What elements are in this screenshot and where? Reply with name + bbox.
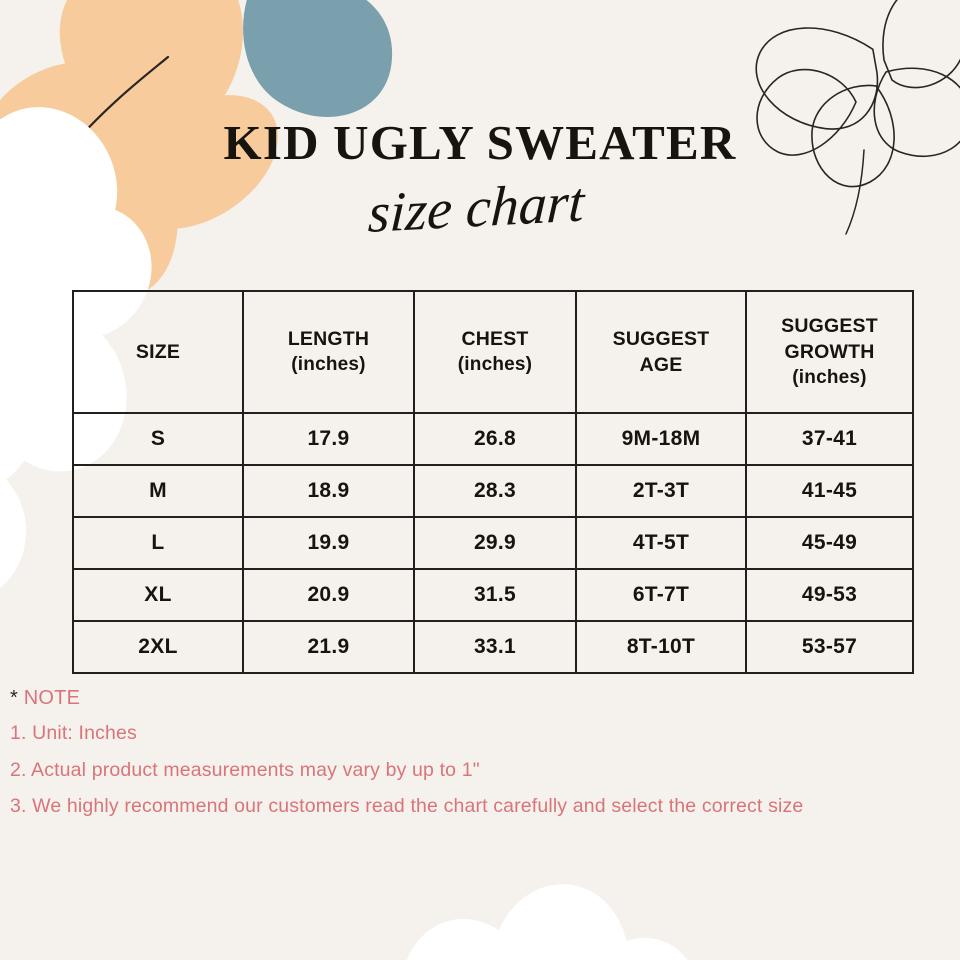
cell-chest: 33.1 xyxy=(414,621,576,673)
page-title: KID UGLY SWEATER xyxy=(0,118,960,167)
cell-age: 6T-7T xyxy=(576,569,746,621)
script-subtitle-text: size chart xyxy=(367,176,588,245)
notes-section: * NOTE 1. Unit: Inches 2. Actual product… xyxy=(10,688,954,834)
col-header-chest-unit: (inches) xyxy=(415,352,575,378)
cell-age: 4T-5T xyxy=(576,517,746,569)
col-header-size: SIZE xyxy=(73,291,243,413)
script-subtitle-icon: size chart xyxy=(220,176,740,246)
cell-length: 20.9 xyxy=(243,569,414,621)
col-header-size-label: SIZE xyxy=(136,341,180,363)
col-header-length-unit: (inches) xyxy=(244,352,413,378)
cell-age: 2T-3T xyxy=(576,465,746,517)
col-header-age-label2: AGE xyxy=(577,352,745,378)
col-header-growth: SUGGEST GROWTH (inches) xyxy=(746,291,913,413)
cell-growth: 37-41 xyxy=(746,413,913,465)
cell-length: 19.9 xyxy=(243,517,414,569)
col-header-age: SUGGEST AGE xyxy=(576,291,746,413)
note-line-2: 2. Actual product measurements may vary … xyxy=(10,761,954,781)
cell-length: 17.9 xyxy=(243,413,414,465)
table-row: L19.929.94T-5T45-49 xyxy=(73,517,913,569)
table-row: XL20.931.56T-7T49-53 xyxy=(73,569,913,621)
cell-growth: 45-49 xyxy=(746,517,913,569)
col-header-growth-label2: GROWTH xyxy=(747,339,912,365)
note-heading-label: NOTE xyxy=(24,687,80,709)
col-header-length: LENGTH (inches) xyxy=(243,291,414,413)
cell-size: S xyxy=(73,413,243,465)
cell-chest: 29.9 xyxy=(414,517,576,569)
note-asterisk-icon: * xyxy=(10,687,18,709)
cell-growth: 41-45 xyxy=(746,465,913,517)
note-line-1: 1. Unit: Inches xyxy=(10,724,954,744)
cell-chest: 28.3 xyxy=(414,465,576,517)
table-row: 2XL21.933.18T-10T53-57 xyxy=(73,621,913,673)
size-chart-table: SIZE LENGTH (inches) CHEST (inches) SUGG… xyxy=(72,290,914,674)
table-header-row: SIZE LENGTH (inches) CHEST (inches) SUGG… xyxy=(73,291,913,413)
cell-chest: 31.5 xyxy=(414,569,576,621)
note-heading: * NOTE xyxy=(10,688,954,708)
table-body: S17.926.89M-18M37-41M18.928.32T-3T41-45L… xyxy=(73,413,913,673)
cell-length: 18.9 xyxy=(243,465,414,517)
cell-growth: 49-53 xyxy=(746,569,913,621)
col-header-length-label: LENGTH xyxy=(244,326,413,352)
cell-growth: 53-57 xyxy=(746,621,913,673)
table-row: S17.926.89M-18M37-41 xyxy=(73,413,913,465)
cell-chest: 26.8 xyxy=(414,413,576,465)
cell-age: 8T-10T xyxy=(576,621,746,673)
table-header: SIZE LENGTH (inches) CHEST (inches) SUGG… xyxy=(73,291,913,413)
page-subtitle: size chart xyxy=(0,176,960,246)
col-header-growth-unit: (inches) xyxy=(747,365,912,391)
note-line-3: 3. We highly recommend our customers rea… xyxy=(10,797,954,817)
table-row: M18.928.32T-3T41-45 xyxy=(73,465,913,517)
col-header-chest: CHEST (inches) xyxy=(414,291,576,413)
cell-size: 2XL xyxy=(73,621,243,673)
cell-length: 21.9 xyxy=(243,621,414,673)
cell-size: XL xyxy=(73,569,243,621)
col-header-age-label: SUGGEST xyxy=(577,326,745,352)
cell-age: 9M-18M xyxy=(576,413,746,465)
col-header-chest-label: CHEST xyxy=(415,326,575,352)
size-chart-canvas: KID UGLY SWEATER size chart SIZE LENGTH xyxy=(0,0,960,960)
col-header-growth-label: SUGGEST xyxy=(747,313,912,339)
cell-size: L xyxy=(73,517,243,569)
cell-size: M xyxy=(73,465,243,517)
